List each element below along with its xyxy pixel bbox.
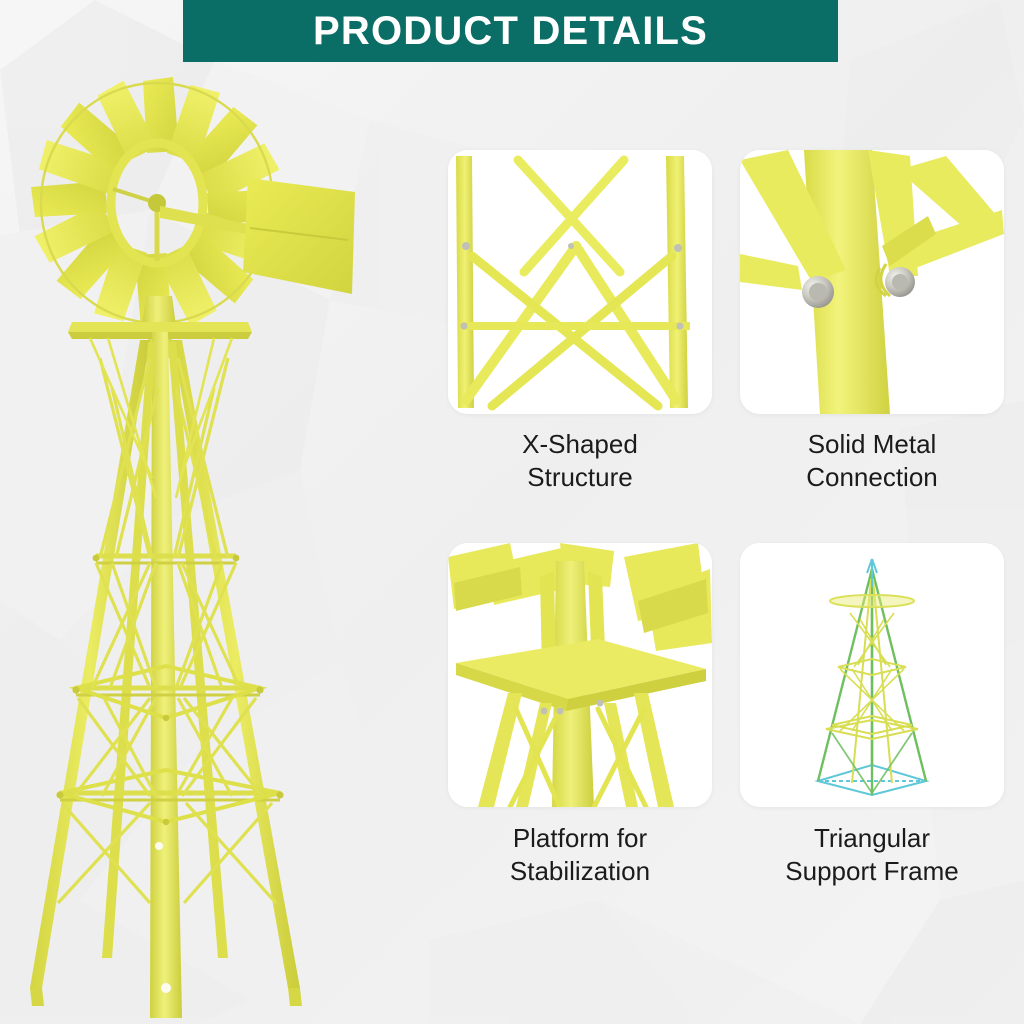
platform-closeup-image	[448, 543, 712, 807]
caption-line-2: Stabilization	[440, 855, 720, 888]
caption-line-2: Support Frame	[732, 855, 1012, 888]
caption-line-2: Connection	[732, 461, 1012, 494]
header-banner: PRODUCT DETAILS	[183, 0, 838, 62]
page-title: PRODUCT DETAILS	[313, 11, 708, 51]
caption-triangular-support-frame: Triangular Support Frame	[732, 822, 1012, 889]
triangular-frame-wireframe-image	[740, 543, 1004, 807]
caption-line-2: Structure	[440, 461, 720, 494]
x-shaped-lattice-closeup-image	[448, 150, 712, 414]
detail-card-triangular-support-frame[interactable]	[740, 543, 1004, 807]
caption-solid-metal-connection: Solid Metal Connection	[732, 428, 1012, 495]
caption-line-1: Triangular	[732, 822, 1012, 855]
caption-line-1: Platform for	[440, 822, 720, 855]
caption-line-1: X-Shaped	[440, 428, 720, 461]
detail-card-platform-stabilization[interactable]	[448, 543, 712, 807]
bolted-metal-joint-closeup-image	[740, 150, 1004, 414]
tower-lattice	[30, 332, 302, 1018]
detail-card-x-shaped-structure[interactable]	[448, 150, 712, 414]
caption-line-1: Solid Metal	[732, 428, 1012, 461]
windmill-illustration	[0, 58, 430, 1024]
caption-x-shaped-structure: X-Shaped Structure	[440, 428, 720, 495]
product-image-windmill	[0, 58, 430, 1024]
caption-platform-stabilization: Platform for Stabilization	[440, 822, 720, 889]
detail-card-solid-metal-connection[interactable]	[740, 150, 1004, 414]
rotor-blades	[31, 77, 283, 329]
